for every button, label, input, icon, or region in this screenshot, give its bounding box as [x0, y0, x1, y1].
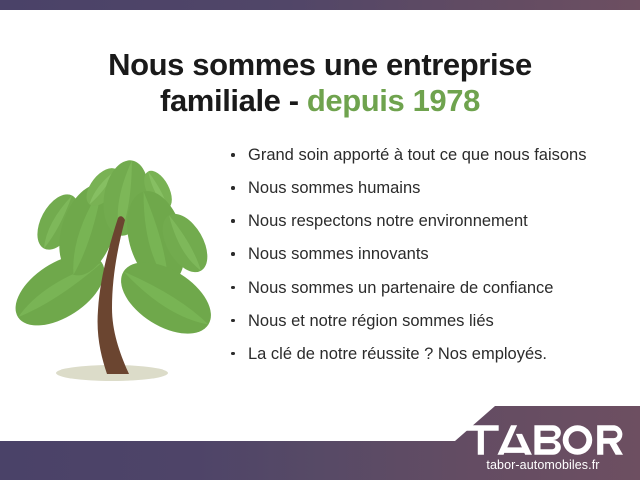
page-title: Nous sommes une entreprise familiale - d…	[0, 47, 640, 120]
list-item: Nous et notre région sommes liés	[228, 311, 628, 332]
list-item-label: Grand soin apporté à tout ce que nous fa…	[248, 146, 586, 164]
top-accent-bar	[0, 0, 640, 10]
bullet-icon	[231, 352, 235, 356]
bullet-icon	[231, 219, 235, 223]
bullet-icon	[231, 153, 235, 157]
page-title-line-1: Nous sommes une entreprise	[108, 47, 532, 82]
benefits-list: Grand soin apporté à tout ce que nous fa…	[228, 145, 628, 377]
list-item: La clé de notre réussite ? Nos employés.	[228, 344, 628, 365]
list-item: Nous sommes innovants	[228, 244, 628, 265]
bullet-icon	[231, 319, 235, 323]
brand-logo: TABOR tabor-automobiles.fr	[458, 425, 628, 472]
slide-canvas: Nous sommes une entreprise familiale - d…	[0, 0, 640, 480]
page-title-line-2-main: familiale -	[160, 83, 307, 118]
list-item-label: La clé de notre réussite ? Nos employés.	[248, 345, 547, 363]
page-title-line-2: familiale - depuis 1978	[0, 83, 640, 120]
bullet-icon	[231, 252, 235, 256]
logo-tagline: tabor-automobiles.fr	[458, 458, 628, 472]
bullet-icon	[231, 286, 235, 290]
bullet-icon	[231, 186, 235, 190]
list-item-label: Nous sommes un partenaire de confiance	[248, 279, 553, 297]
tabor-wordmark-text: TABOR	[543, 455, 544, 456]
list-item: Grand soin apporté à tout ce que nous fa…	[228, 145, 628, 166]
tree-illustration	[8, 150, 223, 395]
list-item-label: Nous sommes innovants	[248, 245, 429, 263]
list-item-label: Nous et notre région sommes liés	[248, 312, 494, 330]
list-item: Nous sommes humains	[228, 178, 628, 199]
list-item-label: Nous respectons notre environnement	[248, 212, 528, 230]
list-item-label: Nous sommes humains	[248, 179, 420, 197]
tabor-wordmark-icon	[463, 425, 623, 455]
list-item: Nous respectons notre environnement	[228, 211, 628, 232]
page-title-accent: depuis 1978	[307, 83, 480, 118]
list-item: Nous sommes un partenaire de confiance	[228, 278, 628, 299]
